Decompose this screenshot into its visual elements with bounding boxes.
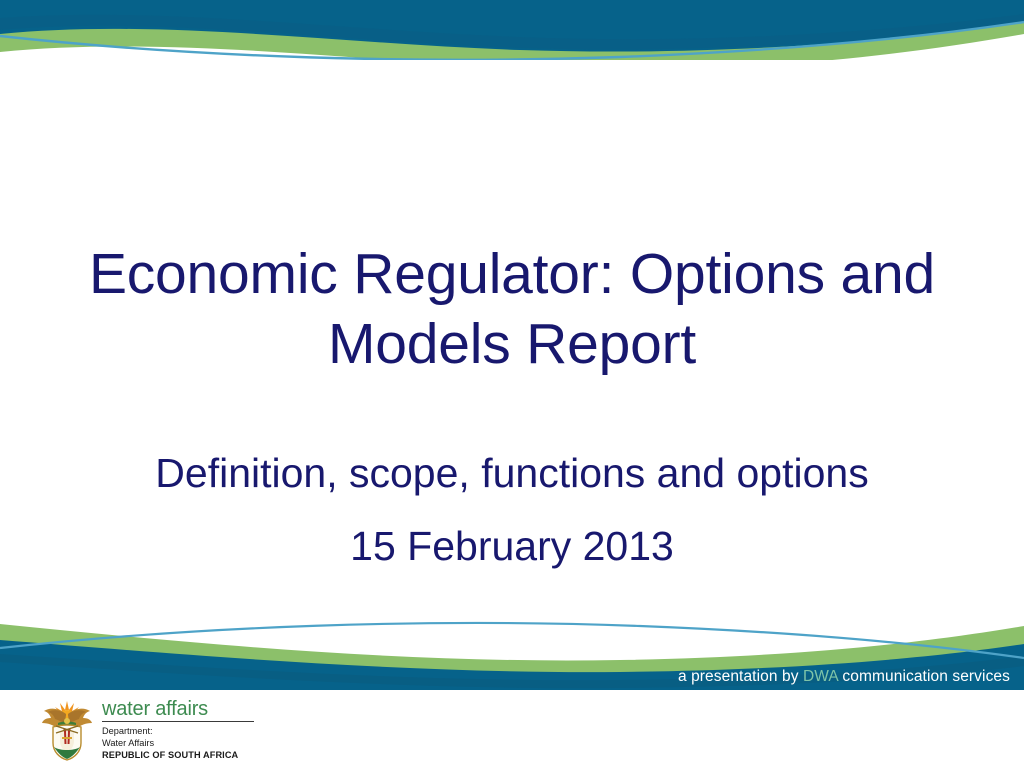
logo-wordmark: water affairs: [102, 699, 254, 722]
footer-tagline-suffix: communication services: [838, 668, 1010, 685]
footer-tagline-prefix: a presentation by: [678, 668, 803, 685]
logo-line-water-affairs: Water Affairs: [102, 737, 352, 749]
logo-line-department: Department:: [102, 725, 352, 737]
footer-tagline-brand: DWA: [803, 668, 838, 685]
header-wave-decoration: [0, 0, 1024, 60]
logo-text-block: water affairs Department: Water Affairs …: [102, 699, 352, 761]
slide-date: 15 February 2013: [112, 520, 912, 573]
logo-line-republic: REPUBLIC OF SOUTH AFRICA: [102, 749, 352, 761]
presentation-slide: Economic Regulator: Options and Models R…: [0, 0, 1024, 768]
logo-department-lines: Department: Water Affairs REPUBLIC OF SO…: [102, 725, 352, 761]
subtitle-block: Definition, scope, functions and options…: [112, 447, 912, 574]
slide-subtitle: Definition, scope, functions and options: [112, 447, 912, 500]
footer-tagline: a presentation by DWA communication serv…: [678, 668, 1010, 686]
coat-of-arms-icon: [36, 697, 98, 763]
slide-title: Economic Regulator: Options and Models R…: [80, 240, 944, 379]
water-affairs-logo: water affairs Department: Water Affairs …: [36, 697, 366, 763]
title-block: Economic Regulator: Options and Models R…: [80, 240, 944, 379]
